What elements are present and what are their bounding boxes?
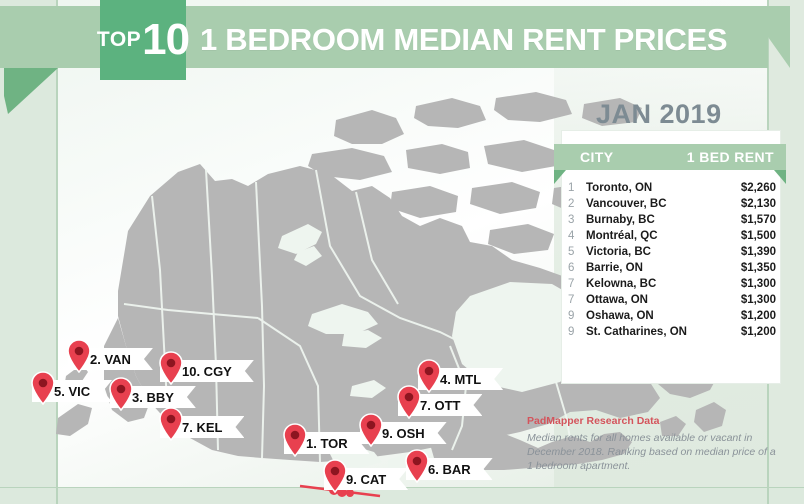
map-pin-tor[interactable]: 1. TOR [284, 432, 370, 454]
row-rank: 7 [568, 276, 586, 292]
map-pin-ott[interactable]: 7. OTT [398, 394, 482, 416]
table-row: 4Montréal, QC$1,500 [568, 228, 776, 244]
row-city: Victoria, BC [586, 244, 727, 260]
row-rank: 1 [568, 180, 586, 196]
row-rent: $1,350 [727, 260, 776, 276]
map-pin-icon [358, 413, 384, 447]
map-pin-bby[interactable]: 3. BBY [110, 386, 196, 408]
row-city: Burnaby, BC [586, 212, 727, 228]
map-pin-icon [158, 351, 184, 385]
map-pin-icon [416, 359, 442, 393]
map-pin-cat[interactable]: 9. CAT [324, 468, 408, 490]
row-rank: 6 [568, 260, 586, 276]
header-ribbon: TOP 10 1 BEDROOM MEDIAN RENT PRICES [0, 6, 804, 68]
map-pin-cgy[interactable]: 10. CGY [160, 360, 254, 382]
row-city: Kelowna, BC [586, 276, 727, 292]
top10-badge: TOP 10 [100, 0, 186, 80]
top10-number: 10 [142, 18, 189, 62]
row-rank: 3 [568, 212, 586, 228]
row-city: Ottawa, ON [586, 292, 727, 308]
map-pin-icon [282, 423, 308, 457]
row-city: Barrie, ON [586, 260, 727, 276]
rent-table-body: 1Toronto, ON$2,2602Vancouver, BC$2,1303B… [568, 180, 776, 340]
table-row: 3Burnaby, BC$1,570 [568, 212, 776, 228]
period-label: JAN 2019 [596, 99, 722, 130]
infographic-root: TOP 10 1 BEDROOM MEDIAN RENT PRICES JAN … [0, 0, 804, 504]
row-rent: $1,500 [727, 228, 776, 244]
row-city: St. Catharines, ON [586, 324, 727, 340]
map-pin-icon [322, 459, 348, 493]
map-pin-icon [158, 407, 184, 441]
map-pin-bar[interactable]: 6. BAR [406, 458, 493, 480]
row-city: Toronto, ON [586, 180, 727, 196]
map-pin-osh[interactable]: 9. OSH [360, 422, 447, 444]
row-rent: $2,130 [727, 196, 776, 212]
table-row: 7Ottawa, ON$1,300 [568, 292, 776, 308]
row-rent: $1,570 [727, 212, 776, 228]
table-row: 7Kelowna, BC$1,300 [568, 276, 776, 292]
rent-table: 1Toronto, ON$2,2602Vancouver, BC$2,1303B… [568, 180, 776, 340]
column-header-city: CITY [580, 149, 614, 165]
table-row: 6Barrie, ON$1,350 [568, 260, 776, 276]
row-rank: 2 [568, 196, 586, 212]
map-pin-mtl[interactable]: 4. MTL [418, 368, 503, 390]
table-row: 2Vancouver, BC$2,130 [568, 196, 776, 212]
row-rank: 7 [568, 292, 586, 308]
table-row: 5Victoria, BC$1,390 [568, 244, 776, 260]
map-pin-icon [30, 371, 56, 405]
map-pin-icon [108, 377, 134, 411]
table-row: 9St. Catharines, ON$1,200 [568, 324, 776, 340]
page-title: 1 BEDROOM MEDIAN RENT PRICES [200, 22, 727, 58]
top10-label: TOP [97, 28, 141, 52]
row-rent: $1,200 [727, 308, 776, 324]
map-pin-icon [404, 449, 430, 483]
rent-table-header: CITY 1 BED RENT [554, 144, 786, 170]
row-rent: $1,300 [727, 292, 776, 308]
footnote-body: Median rents for all homes available or … [527, 431, 779, 473]
row-rank: 4 [568, 228, 586, 244]
row-rent: $1,390 [727, 244, 776, 260]
row-rank: 9 [568, 308, 586, 324]
row-rank: 9 [568, 324, 586, 340]
row-rank: 5 [568, 244, 586, 260]
map-pin-kel[interactable]: 7. KEL [160, 416, 244, 438]
row-rent: $2,260 [727, 180, 776, 196]
row-rent: $1,200 [727, 324, 776, 340]
map-pin-icon [66, 339, 92, 373]
row-city: Montréal, QC [586, 228, 727, 244]
map-pin-van[interactable]: 2. VAN [68, 348, 153, 370]
row-city: Oshawa, ON [586, 308, 727, 324]
row-city: Vancouver, BC [586, 196, 727, 212]
row-rent: $1,300 [727, 276, 776, 292]
footnote-title: PadMapper Research Data [527, 415, 659, 427]
column-header-rent: 1 BED RENT [687, 149, 774, 165]
table-row: 1Toronto, ON$2,260 [568, 180, 776, 196]
map-pin-vic[interactable]: 5. VIC [32, 380, 112, 402]
table-row: 9Oshawa, ON$1,200 [568, 308, 776, 324]
